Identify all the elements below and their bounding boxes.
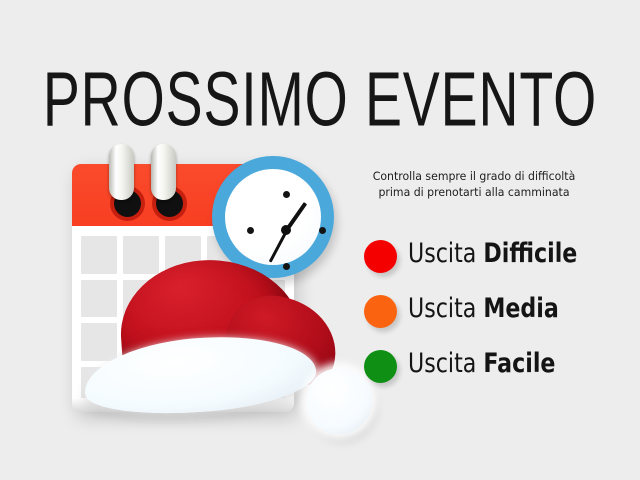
calendar-binder-ring [109, 144, 134, 200]
subtitle: Controlla sempre il grado di difficoltà … [358, 168, 590, 200]
legend-item-facile: Uscita Facile [360, 346, 630, 401]
clock-marker-12-icon [283, 191, 290, 198]
legend-item-media: Uscita Media [360, 291, 630, 346]
legend-label-media: Uscita Media [408, 287, 559, 331]
difficulty-legend: Uscita Difficile Uscita Media Uscita Fac… [360, 236, 630, 401]
clock-center-cap [281, 225, 291, 235]
event-illustration [66, 150, 356, 440]
calendar-binder-ring [151, 144, 176, 200]
red-dot-icon [364, 240, 397, 273]
subtitle-line-1: Controlla sempre il grado di difficoltà [358, 168, 590, 184]
green-dot-icon [364, 350, 397, 383]
poster-canvas: PROSSIMO EVENTO [0, 0, 640, 480]
legend-label-difficile: Uscita Difficile [408, 232, 577, 276]
clock-face [225, 169, 321, 265]
clock-marker-9-icon [247, 227, 254, 234]
legend-prefix: Uscita [408, 348, 483, 379]
page-title: PROSSIMO EVENTO [38, 56, 601, 144]
subtitle-line-2: prima di prenotarti alla camminata [358, 184, 590, 200]
clock-marker-3-icon [319, 227, 326, 234]
legend-item-difficile: Uscita Difficile [360, 236, 630, 291]
santa-hat-icon [84, 260, 334, 440]
clock-minute-hand [268, 230, 287, 262]
legend-prefix: Uscita [408, 238, 483, 269]
legend-level: Difficile [483, 238, 577, 269]
orange-dot-icon [364, 295, 397, 328]
legend-level: Media [483, 293, 558, 324]
legend-label-facile: Uscita Facile [408, 342, 555, 386]
legend-prefix: Uscita [408, 293, 483, 324]
legend-level: Facile [483, 348, 555, 379]
